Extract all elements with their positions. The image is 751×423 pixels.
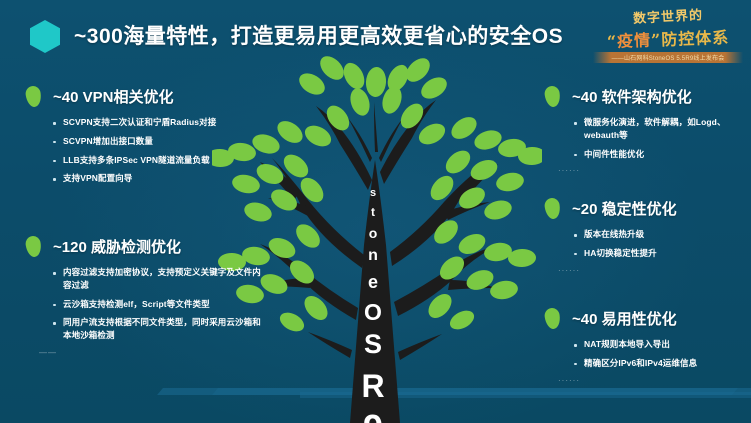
section-title: ~40 VPN相关优化 [53,86,173,107]
section-usability: ~40 易用性优化 NAT规则本地导入导出 精确区分IPv6和IPv4运维信息 … [545,308,750,385]
page-title: ~300海量特性，打造更易用更高效更省心的安全OS [74,20,563,50]
section-more-indicator: ······ [545,166,750,175]
brand-subline: ——山石网科StoneOS 5.5R9线上发布会 [593,52,743,63]
list-item: 支持VPN配置向导 [50,172,261,185]
brand-line-2-suffix: ”防控体系 [651,28,730,50]
trunk-char: n [353,248,393,264]
leaf-icon [544,85,562,108]
list-item: 精确区分IPv6和IPv4运维信息 [571,357,750,370]
list-item: 版本在线热升级 [571,228,750,241]
trunk-char: 9 [353,410,393,423]
section-header: ~120 威胁检测优化 [26,236,266,257]
leaf-icon [25,85,43,108]
section-bullet-list: NAT规则本地导入导出 精确区分IPv6和IPv4运维信息 [571,338,750,370]
list-item: NAT规则本地导入导出 [571,338,750,351]
trunk-char: e [353,273,393,291]
section-more-indicator: ······ [545,376,750,385]
trunk-char: R [353,370,393,402]
section-threat-detection: ~120 威胁检测优化 内容过滤支持加密协议，支持预定义关键字及文件内容过滤 云… [26,236,266,357]
section-title: ~20 稳定性优化 [572,198,677,219]
section-stability: ~20 稳定性优化 版本在线热升级 HA切换稳定性提升 ······ [545,198,750,275]
section-header: ~40 软件架构优化 [545,86,750,107]
trunk-char: o [353,226,393,240]
trunk-char: s [353,188,393,199]
trunk-product-label: s t o n e O S R 9 [353,188,393,423]
section-header: ~40 易用性优化 [545,308,750,329]
brand-quote-open: “ [607,32,618,51]
leaf-icon [544,197,562,220]
section-bullet-list: 版本在线热升级 HA切换稳定性提升 [571,228,750,260]
section-title: ~40 软件架构优化 [572,86,692,107]
leaf-icon [25,235,43,258]
section-more-indicator: —— [26,348,266,357]
brand-highlight: 疫情 [617,31,652,51]
list-item: SCVPN支持二次认证和宁盾Radius对接 [50,116,261,129]
trunk-char: t [353,206,393,218]
slide-canvas: s t o n e O S R 9 ~300海量特性，打造更易用更高效更省心的安… [0,0,751,423]
section-bullet-list: 内容过滤支持加密协议，支持预定义关键字及文件内容过滤 云沙箱支持检测elf，Sc… [50,266,266,342]
section-title: ~120 威胁检测优化 [53,236,181,257]
list-item: LLB支持多条IPSec VPN隧道流量负载 [50,154,261,167]
list-item: 中间件性能优化 [571,148,750,161]
section-vpn: ~40 VPN相关优化 SCVPN支持二次认证和宁盾Radius对接 SCVPN… [26,86,261,191]
brand-lockup: 数字世界的 “疫情”防控体系 ——山石网科StoneOS 5.5R9线上发布会 [593,6,743,62]
list-item: 微服务化演进，软件解耦，如Logd、webauth等 [571,116,750,142]
section-software-architecture: ~40 软件架构优化 微服务化演进，软件解耦，如Logd、webauth等 中间… [545,86,750,175]
section-title: ~40 易用性优化 [572,308,677,329]
section-header: ~20 稳定性优化 [545,198,750,219]
list-item: 同用户流支持根据不同文件类型，同时采用云沙箱和本地沙箱检测 [50,316,266,342]
list-item: 内容过滤支持加密协议，支持预定义关键字及文件内容过滤 [50,266,266,292]
section-more-indicator: ······ [545,266,750,275]
section-header: ~40 VPN相关优化 [26,86,261,107]
section-bullet-list: SCVPN支持二次认证和宁盾Radius对接 SCVPN增加出接口数量 LLB支… [50,116,261,185]
list-item: SCVPN增加出接口数量 [50,135,261,148]
list-item: HA切换稳定性提升 [571,247,750,260]
list-item: 云沙箱支持检测elf，Script等文件类型 [50,298,266,311]
trunk-char: S [353,331,393,358]
section-bullet-list: 微服务化演进，软件解耦，如Logd、webauth等 中间件性能优化 [571,116,750,160]
trunk-char: O [353,301,393,324]
leaf-icon [544,307,562,330]
brand-line-2: “疫情”防控体系 [593,23,744,52]
